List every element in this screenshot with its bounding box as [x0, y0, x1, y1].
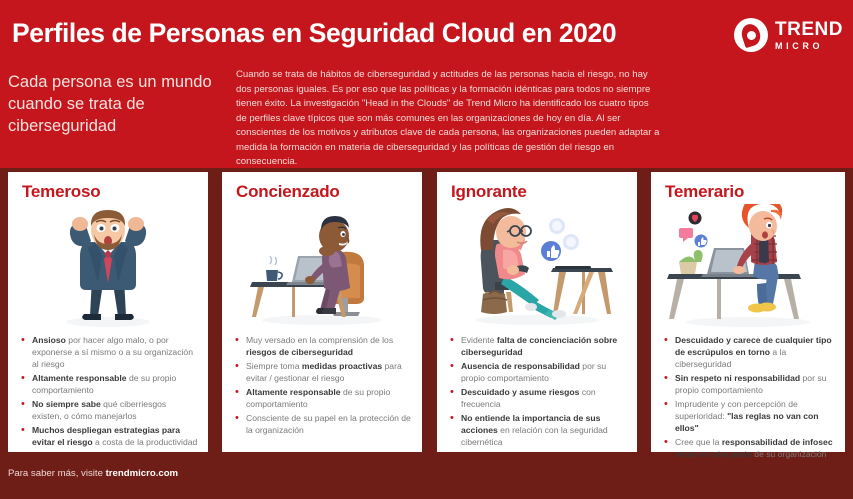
- woman-on-phone-social-media-icon: [437, 204, 637, 332]
- persona-card-ignorante[interactable]: Ignorante: [437, 172, 637, 452]
- persona-card-temerario[interactable]: Temerario: [651, 172, 845, 452]
- card-title: Concienzado: [236, 182, 422, 202]
- list-item: Ansioso por hacer algo malo, o por expon…: [20, 334, 198, 371]
- card-bullets: Ansioso por hacer algo malo, o por expon…: [8, 334, 208, 450]
- logo-trend-text: TREND: [775, 20, 843, 39]
- list-item: Sin respeto ni responsabilidad por su pr…: [663, 372, 835, 396]
- persona-cards: Temeroso: [0, 172, 853, 454]
- card-bullets: Descuidado y carece de cualquier tipo de…: [651, 334, 845, 462]
- persona-card-concienzado[interactable]: Concienzado: [222, 172, 422, 452]
- card-bullets: Evidente falta de concienciación sobre c…: [437, 334, 637, 450]
- logo-wordmark: TREND MICRO: [775, 20, 843, 51]
- list-item: Descuidado y asume riesgos con frecuenci…: [449, 386, 627, 410]
- list-item: No siempre sabe qué ciberriesgos existen…: [20, 398, 198, 422]
- list-item: Altamente responsable de su propio compo…: [20, 372, 198, 396]
- page-title: Perfiles de Personas en Seguridad Cloud …: [12, 18, 616, 49]
- card-title: Temerario: [665, 182, 845, 202]
- man-working-at-desk-with-laptop-icon: [222, 204, 422, 332]
- list-item: Descuidado y carece de cualquier tipo de…: [663, 334, 835, 371]
- infographic-page: Perfiles de Personas en Seguridad Cloud …: [0, 0, 853, 499]
- list-item: Consciente de su papel en la protección …: [234, 412, 412, 436]
- footer-link[interactable]: trendmicro.com: [106, 468, 179, 479]
- lede-text: Cada persona es un mundo cuando se trata…: [8, 72, 223, 137]
- header: Perfiles de Personas en Seguridad Cloud …: [0, 0, 853, 62]
- list-item: Imprudente y con percepción de superiori…: [663, 398, 835, 435]
- logo-micro-text: MICRO: [775, 42, 843, 51]
- trend-micro-logo: TREND MICRO: [734, 18, 843, 52]
- list-item: Muchos despliegan estrategias para evita…: [20, 424, 198, 448]
- anxious-man-holding-head-icon: [8, 204, 208, 332]
- list-item: No entiende la importancia de sus accion…: [449, 412, 627, 449]
- footer: Para saber más, visite trendmicro.com: [8, 468, 178, 479]
- list-item: Siempre toma medidas proactivas para evi…: [234, 360, 412, 384]
- list-item: Ausencia de responsabilidad por su propi…: [449, 360, 627, 384]
- trend-micro-mark-icon: [734, 18, 768, 52]
- list-item: Muy versado en la comprensión de los rie…: [234, 334, 412, 358]
- footer-prefix: Para saber más, visite: [8, 468, 106, 479]
- card-title: Temeroso: [22, 182, 208, 202]
- card-title: Ignorante: [451, 182, 637, 202]
- list-item: Cree que la responsabilidad de infosec r…: [663, 436, 835, 460]
- list-item: Evidente falta de concienciación sobre c…: [449, 334, 627, 358]
- persona-card-temeroso[interactable]: Temeroso: [8, 172, 208, 452]
- comment-icon: [679, 228, 693, 238]
- woman-sitting-on-desk-with-laptop-icon: [651, 204, 845, 332]
- card-bullets: Muy versado en la comprensión de los rie…: [222, 334, 422, 438]
- intro-paragraph: Cuando se trata de hábitos de cibersegur…: [236, 68, 660, 170]
- list-item: Altamente responsable de su propio compo…: [234, 386, 412, 410]
